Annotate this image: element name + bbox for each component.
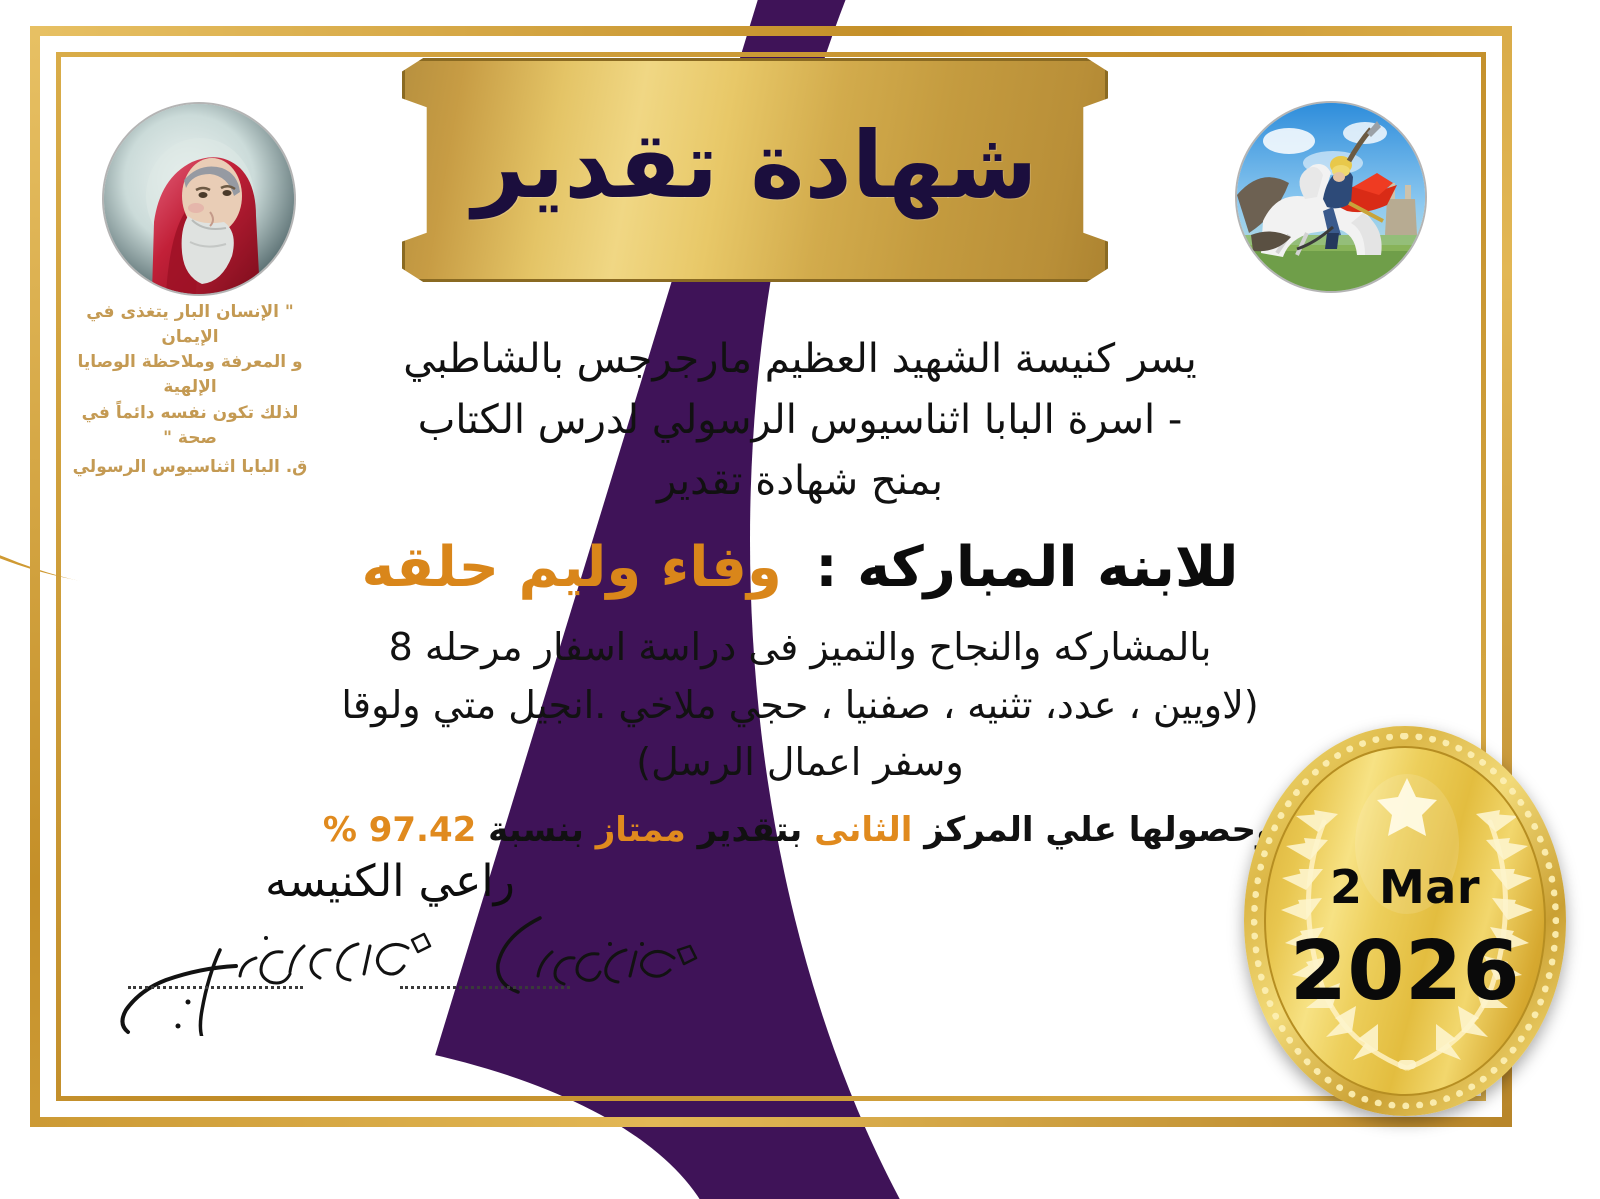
result-grade: ممتاز <box>596 810 686 850</box>
lead-line-3: بمنح شهادة تقدير <box>90 452 1510 511</box>
result-suffix: بنسبة <box>488 810 584 850</box>
athanasius-artwork <box>104 104 294 294</box>
george-artwork <box>1237 103 1425 291</box>
result-percentage: 97.42 % <box>323 810 476 850</box>
handwritten-signatures-icon <box>70 906 710 1036</box>
certificate-content: شهادة تقدير <box>0 0 1600 1199</box>
recipient-line: للابنه المباركه : وفاء وليم حلقه <box>90 534 1510 601</box>
page-title: شهادة تقدير <box>473 120 1038 212</box>
medal-face: 2 Mar 2026 <box>1264 746 1546 1096</box>
signature-area: راعي الكنيسه <box>70 860 710 1036</box>
laurel-wreath-icon <box>1266 748 1546 1096</box>
detail-line-1: بالمشاركه والنجاح والتميز فى دراسة اسفار… <box>90 619 1510 677</box>
lead-line-1: يسر كنيسة الشهيد العظيم مارجرجس بالشاطبي <box>90 330 1510 389</box>
title-plaque: شهادة تقدير <box>402 58 1108 282</box>
saint-george-horseman-icon <box>1237 103 1425 291</box>
saint-athanasius-portrait-icon <box>104 104 294 294</box>
lead-line-2: - اسرة البابا اثناسيوس الرسولي لدرس الكت… <box>90 391 1510 450</box>
signature-line-left <box>128 986 303 989</box>
certificate-page: شهادة تقدير <box>0 0 1600 1199</box>
medal-date-day: 2 Mar <box>1266 860 1544 914</box>
recipient-label: للابنه المباركه : <box>815 535 1238 600</box>
medal-date-year: 2026 <box>1266 924 1544 1019</box>
recipient-name: وفاء وليم حلقه <box>362 535 782 600</box>
signature-strokes <box>70 906 710 1036</box>
signature-label: راعي الكنيسه <box>70 860 710 904</box>
gold-award-medal-icon: 2 Mar 2026 <box>1244 726 1566 1116</box>
result-prefix: وحصولها علي المركز <box>924 810 1277 850</box>
result-rank: الثانى <box>814 810 912 850</box>
signature-line-right <box>400 986 570 989</box>
result-middle: بتقدير <box>698 810 803 850</box>
